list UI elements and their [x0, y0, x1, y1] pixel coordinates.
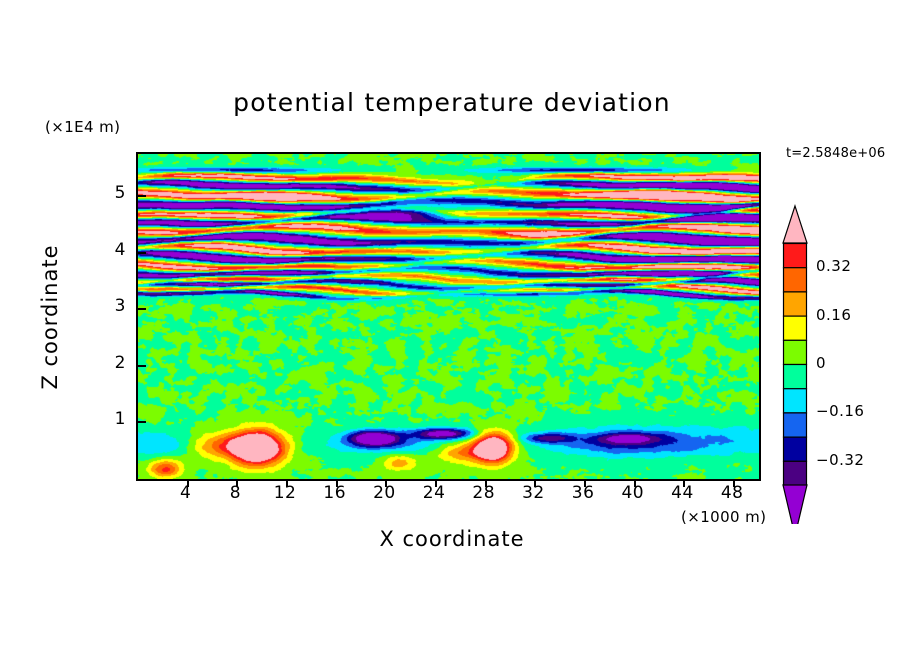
y-tick	[138, 421, 146, 423]
y-axis-unit-label: (×1E4 m)	[45, 118, 120, 136]
x-tick-label: 20	[362, 483, 406, 503]
colorbar-label: −0.32	[816, 451, 864, 469]
y-tick-label: 3	[104, 296, 126, 316]
y-tick	[138, 308, 146, 310]
contour-field	[138, 154, 759, 479]
x-tick-label: 12	[263, 483, 307, 503]
figure-canvas: potential temperature deviation (×1E4 m)…	[0, 0, 904, 654]
colorbar-label: −0.16	[816, 402, 864, 420]
y-tick-label: 5	[104, 183, 126, 203]
x-tick-label: 32	[511, 483, 555, 503]
y-tick	[138, 195, 146, 197]
x-tick-label: 44	[660, 483, 704, 503]
x-axis-unit-label: (×1000 m)	[681, 508, 766, 526]
timestamp-annotation: t=2.5848e+06	[786, 146, 885, 161]
colorbar-label: 0.16	[816, 306, 851, 324]
y-tick-label: 4	[104, 240, 126, 260]
colorbar-label: 0	[816, 354, 826, 372]
x-tick-label: 40	[611, 483, 655, 503]
colorbar	[781, 204, 809, 524]
y-tick-label: 1	[104, 409, 126, 429]
y-tick	[138, 252, 146, 254]
x-tick-label: 4	[164, 483, 208, 503]
x-tick-label: 28	[462, 483, 506, 503]
y-tick	[138, 365, 146, 367]
x-tick-label: 48	[710, 483, 754, 503]
y-axis-title: Z coordinate	[38, 207, 62, 427]
x-tick-label: 8	[213, 483, 257, 503]
x-tick-label: 36	[561, 483, 605, 503]
x-axis-title: X coordinate	[0, 527, 904, 551]
contour-plot-area	[136, 152, 761, 481]
chart-title: potential temperature deviation	[0, 88, 904, 117]
x-tick-label: 24	[412, 483, 456, 503]
x-tick-label: 16	[313, 483, 357, 503]
y-tick-label: 2	[104, 353, 126, 373]
colorbar-label: 0.32	[816, 257, 851, 275]
